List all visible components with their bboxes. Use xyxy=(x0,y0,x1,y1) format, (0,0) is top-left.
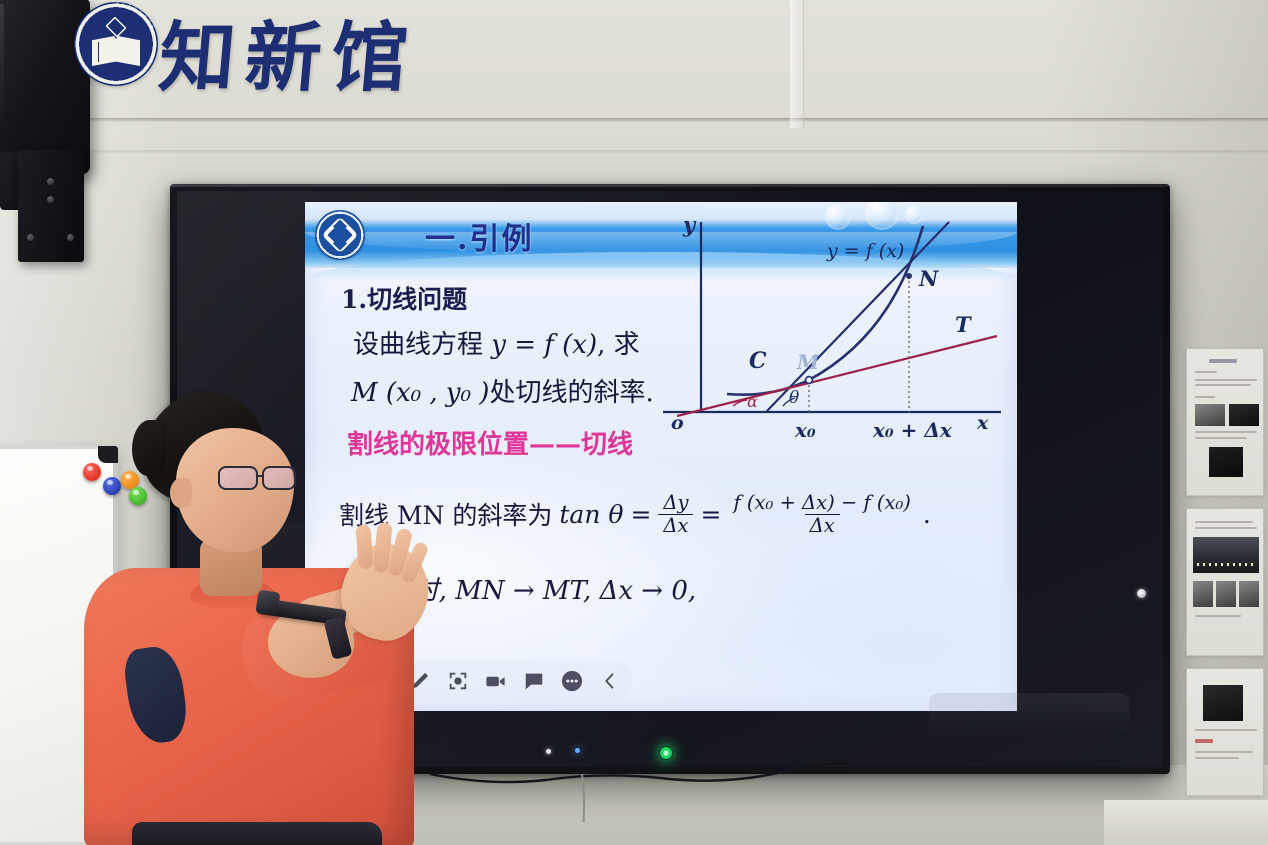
fraction2-numerator: f (x₀ + Δx) − f (x₀) xyxy=(728,492,915,514)
formula-eq-2: = xyxy=(701,500,722,529)
comment-icon[interactable] xyxy=(521,669,546,694)
speaker-highlight xyxy=(0,4,4,124)
cable-vertical xyxy=(582,774,584,822)
wall-seam-lower xyxy=(0,150,1268,154)
point-N-marker xyxy=(906,273,912,279)
presenter-pants xyxy=(132,822,382,845)
ir-sensor-icon xyxy=(1137,589,1146,598)
glasses-icon xyxy=(218,466,300,492)
tick-label-x0-dx: x₀ + Δx xyxy=(873,418,952,442)
more-icon[interactable] xyxy=(559,669,584,694)
line1-math: y = f (x) xyxy=(491,330,597,360)
formula-fraction-2: f (x₀ + Δx) − f (x₀) Δx xyxy=(728,492,915,537)
hall-name-sign: 知新馆 xyxy=(155,0,423,106)
angle-label-alpha: α xyxy=(747,392,758,411)
tick-label-x0: x₀ xyxy=(795,418,816,442)
wall-posters xyxy=(1186,348,1268,748)
panel-bezel-highlight xyxy=(170,184,1170,187)
slide-formula-line: 割线 MN 的斜率为 tan θ = Δy Δx = f (x₀ + Δx) −… xyxy=(339,492,931,537)
formula-tan: tan θ xyxy=(559,500,623,529)
tangent-line-diagram: y o x y = f (x) C M N T α θ x₀ x₀ + Δx xyxy=(661,216,1011,452)
chevron-left-icon[interactable] xyxy=(597,669,622,694)
angle-label-theta: θ xyxy=(789,388,799,408)
wall-pillar xyxy=(790,0,804,128)
function-label: y = f (x) xyxy=(827,240,904,262)
desk-surface xyxy=(1104,800,1268,845)
line1-prefix: 设曲线方程 xyxy=(353,330,491,360)
wall-seam-upper xyxy=(0,118,1268,122)
screen-desk-reflection xyxy=(929,693,1129,737)
poster-bottom xyxy=(1186,668,1264,796)
line1-suffix: , 求 xyxy=(597,330,640,360)
axis-label-x: x xyxy=(977,412,988,434)
slide-line-1: 设曲线方程 y = f (x), 求 xyxy=(353,324,640,361)
formula-eq-1: = xyxy=(630,500,651,529)
cable-horizontal xyxy=(430,764,850,782)
point-label-M: M xyxy=(797,350,819,374)
formula-period: . xyxy=(923,500,931,529)
tangent-label-T: T xyxy=(955,312,971,337)
wall-speaker xyxy=(0,0,90,175)
formula-fraction-1: Δy Δx xyxy=(658,492,693,537)
tangent-line-T xyxy=(677,336,997,416)
axis-label-y: y xyxy=(683,212,695,237)
screenshot-icon[interactable] xyxy=(445,669,470,694)
fraction1-numerator: Δy xyxy=(658,492,693,514)
poster-middle xyxy=(1186,508,1264,656)
hall-seal-icon xyxy=(74,2,158,86)
fraction1-denominator: Δx xyxy=(658,514,693,537)
presenter-ear xyxy=(170,478,192,508)
axis-label-origin: o xyxy=(671,412,684,434)
poster-top xyxy=(1186,348,1264,496)
slide-school-emblem-icon xyxy=(315,210,365,260)
cables xyxy=(430,752,850,822)
point-M-marker xyxy=(806,377,813,384)
cable-svg xyxy=(430,752,850,822)
slide-title: 一.引例 xyxy=(425,214,533,258)
curve-label-C: C xyxy=(749,348,767,374)
lecture-room-scene: 知新馆 一.引例 1.切线问题 xyxy=(0,0,1268,845)
line2-suffix: 处切线的斜率. xyxy=(489,378,653,408)
point-label-N: N xyxy=(919,266,938,291)
fraction2-denominator: Δx xyxy=(805,514,840,537)
video-camera-icon[interactable] xyxy=(483,669,508,694)
presenter xyxy=(92,392,422,845)
slide-subtitle: 1.切线问题 xyxy=(341,280,467,316)
speaker-bracket xyxy=(18,150,84,262)
